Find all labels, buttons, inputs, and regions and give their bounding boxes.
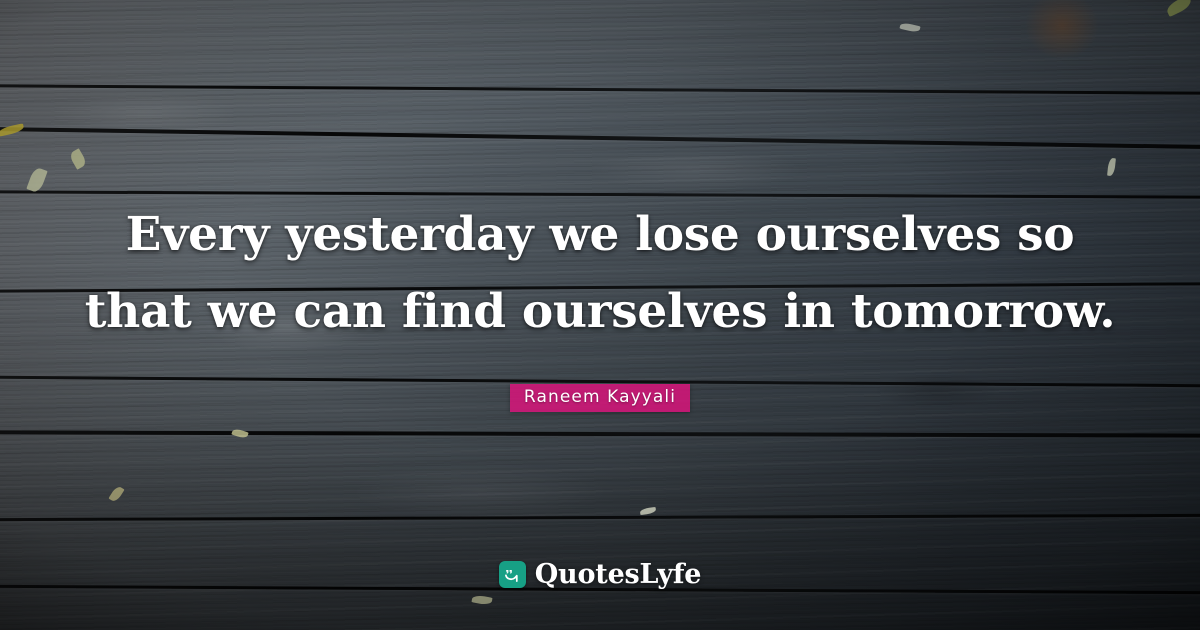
brand-name: QuotesLyfe	[535, 561, 702, 588]
quote-image-card: Every yesterday we lose ourselves so tha…	[0, 0, 1200, 630]
quote-text: Every yesterday we lose ourselves so tha…	[69, 196, 1131, 350]
quote-content: Every yesterday we lose ourselves so tha…	[0, 0, 1200, 630]
author-attribution: Raneem Kayyali	[510, 384, 690, 412]
smiley-quote-icon	[499, 561, 526, 588]
author-name-badge: Raneem Kayyali	[510, 384, 690, 412]
brand-logo[interactable]: QuotesLyfe	[0, 561, 1200, 588]
